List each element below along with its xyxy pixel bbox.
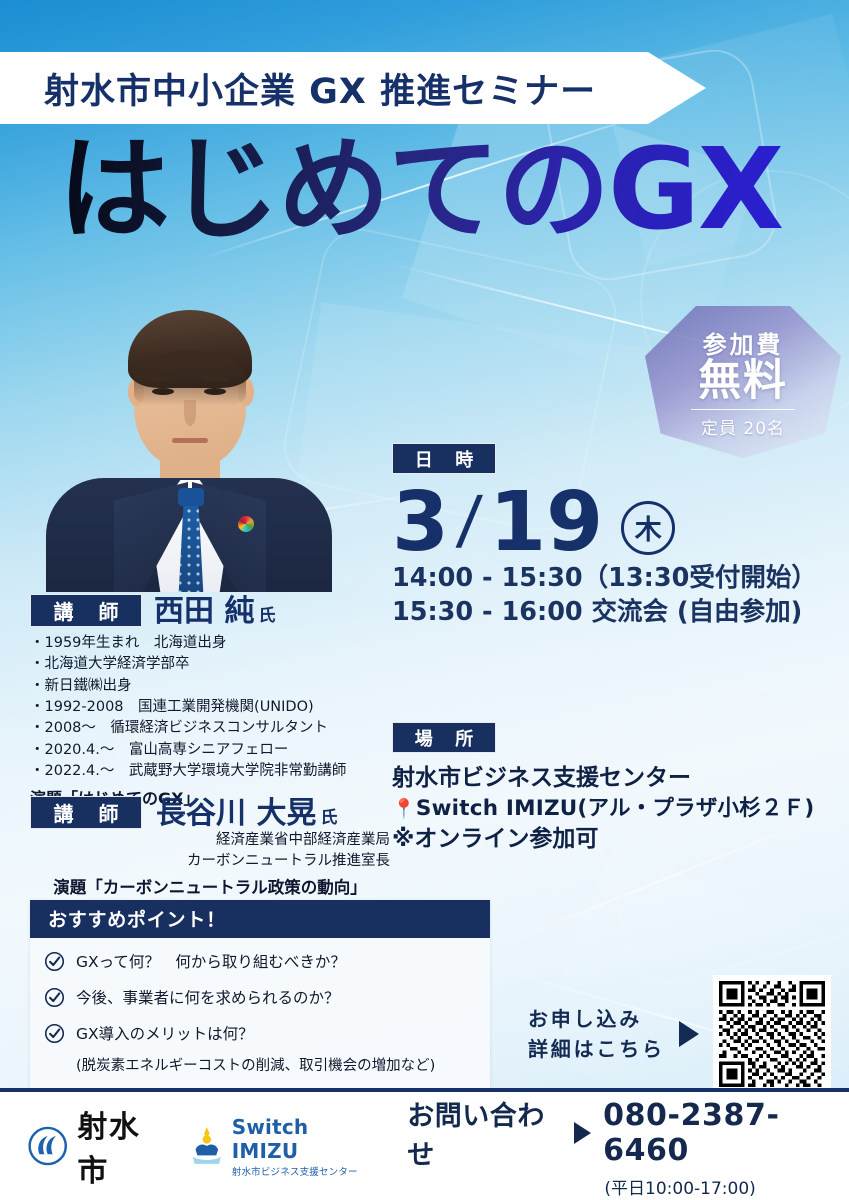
footer: 射水市 Switch IMIZU 射水市ビジネス支援センター お問い合わせ 08…	[0, 1088, 849, 1200]
date-day: 19	[489, 484, 603, 562]
city-name: 射水市	[77, 1102, 166, 1190]
switch-imizu-logo: Switch IMIZU 射水市ビジネス支援センター	[188, 1115, 373, 1178]
fee-badge: 参加費 無料 定員 20名	[645, 306, 841, 458]
point-text: GX導入のメリットは何？	[76, 1022, 254, 1044]
bio-item: 2008〜 循環経済ビジネスコンサルタント	[30, 718, 390, 739]
venue-label: 場 所	[392, 722, 496, 753]
speaker-2-suffix: 氏	[320, 808, 337, 827]
speaker-1-name: 西田 純	[154, 594, 254, 629]
bio-item: 2022.4.〜 武蔵野大学環境大学院非常勤講師	[30, 761, 390, 782]
apply-line-1: お申し込み	[528, 1004, 665, 1034]
speaker-photo	[42, 292, 336, 592]
speaker-1-bio: 1959年生まれ 北海道出身 北海道大学経済学部卒 新日鐵㈱出身 1992-20…	[30, 633, 390, 782]
contact-row: お問い合わせ 080-2387-6460	[407, 1094, 849, 1172]
photo-mouth	[172, 438, 208, 443]
apply-line-2: 詳細はこちら	[528, 1034, 665, 1064]
points-title: おすすめポイント！	[30, 900, 490, 938]
contact-phone[interactable]: 080-2387-6460	[603, 1098, 849, 1168]
datetime-label: 日 時	[392, 443, 496, 474]
speaker-2-name-wrap: 長谷川 大晃氏	[156, 799, 337, 829]
sdgs-pin-icon	[238, 516, 254, 532]
speaker-2-name: 長谷川 大晃	[156, 796, 316, 831]
speaker-1-suffix: 氏	[258, 606, 275, 625]
venue-line-3: ※オンライン参加可	[392, 824, 847, 855]
imizu-city-swirl-icon	[28, 1125, 67, 1167]
check-circle-icon	[44, 951, 65, 972]
venue-line-2: Switch IMIZU(アル・プラザ小杉２Ｆ)	[416, 796, 815, 821]
point-item: 今後、事業者に何を求められるのか？	[44, 986, 476, 1008]
datetime-section: 日 時 3 / 19 木 14:00 - 15:30（13:30受付開始） 15…	[392, 443, 842, 629]
apply-section[interactable]: お申し込み 詳細はこちら	[528, 975, 831, 1093]
points-section: おすすめポイント！ GXって何？ 何から取り組むべきか？ 今後、事業者に何を求め…	[30, 900, 490, 1093]
speaker-2-affiliation-2: カーボンニュートラル推進室長	[30, 852, 390, 871]
speaker-1-name-wrap: 西田 純氏	[154, 597, 275, 627]
switch-imizu-text: Switch IMIZU 射水市ビジネス支援センター	[232, 1115, 373, 1178]
photo-tie-knot	[178, 488, 204, 506]
qr-code-icon[interactable]	[713, 975, 831, 1093]
map-pin-icon: 📍	[392, 798, 416, 820]
check-circle-icon	[44, 987, 65, 1008]
contact-block: お問い合わせ 080-2387-6460 (平日10:00-17:00)	[407, 1094, 849, 1199]
check-circle-icon	[44, 1023, 65, 1044]
switch-name: Switch IMIZU	[232, 1115, 373, 1163]
point-item: GXって何？ 何から取り組むべきか？	[44, 950, 476, 972]
date-separator: /	[454, 489, 484, 557]
switch-imizu-icon	[188, 1125, 226, 1167]
photo-eye-right	[204, 388, 226, 395]
time-line-2: 15:30 - 16:00 交流会 (自由参加)	[392, 596, 842, 630]
bio-item: 新日鐵㈱出身	[30, 676, 390, 697]
speaker-2-label: 講 師	[30, 796, 142, 829]
time-line-1: 14:00 - 15:30（13:30受付開始）	[392, 562, 842, 596]
speaker-1-header: 講 師 西田 純氏	[30, 594, 390, 627]
capacity-label: 定員 20名	[701, 414, 785, 439]
venue-line-1: 射水市ビジネス支援センター	[392, 763, 847, 794]
fee-value: 無料	[698, 359, 787, 404]
photo-nose	[184, 400, 196, 426]
bio-item: 1959年生まれ 北海道出身	[30, 633, 390, 654]
speaker-1: 講 師 西田 純氏 1959年生まれ 北海道出身 北海道大学経済学部卒 新日鐵㈱…	[30, 594, 390, 809]
speaker-2-header: 講 師 長谷川 大晃氏	[30, 796, 390, 829]
bio-item: 北海道大学経済学部卒	[30, 654, 390, 675]
date-day-of-week: 木	[621, 501, 675, 555]
speaker-2-topic: 演題「カーボンニュートラル政策の動向」	[30, 874, 390, 898]
speaker-2-affiliation-1: 経済産業省中部経済産業局	[30, 831, 390, 850]
fee-label: 参加費	[703, 325, 784, 360]
photo-eye-left	[152, 388, 174, 395]
header-banner: 射水市中小企業 GX 推進セミナー	[0, 52, 706, 124]
fee-divider	[691, 409, 795, 411]
imizu-city-logo: 射水市	[28, 1102, 166, 1190]
date-display: 3 / 19 木	[392, 484, 842, 562]
apply-text: お申し込み 詳細はこちら	[528, 1004, 665, 1064]
speaker-2: 講 師 長谷川 大晃氏 経済産業省中部経済産業局 カーボンニュートラル推進室長 …	[30, 796, 390, 898]
point-item: GX導入のメリットは何？	[44, 1022, 476, 1044]
switch-subtitle: 射水市ビジネス支援センター	[232, 1164, 373, 1178]
point-text: GXって何？ 何から取り組むべきか？	[76, 950, 346, 972]
points-body: GXって何？ 何から取り組むべきか？ 今後、事業者に何を求められるのか？ GX導…	[30, 938, 490, 1093]
banner-title: 射水市中小企業 GX 推進セミナー	[44, 63, 596, 114]
photo-hair	[128, 310, 252, 388]
poster-root: 射水市中小企業 GX 推進セミナー はじめてのGX 参加費 無料 定員 20名 …	[0, 0, 849, 1200]
triangle-right-icon	[679, 1021, 699, 1047]
venue-section: 場 所 射水市ビジネス支援センター 📍Switch IMIZU(アル・プラザ小杉…	[392, 722, 847, 855]
speaker-1-label: 講 師	[30, 594, 142, 627]
bio-item: 1992-2008 国連工業開発機関(UNIDO)	[30, 697, 390, 718]
date-month: 3	[392, 484, 449, 562]
point-text: 今後、事業者に何を求められるのか？	[76, 986, 340, 1008]
triangle-right-icon	[574, 1122, 591, 1144]
venue-line-2-wrap: 📍Switch IMIZU(アル・プラザ小杉２Ｆ)	[392, 794, 847, 823]
bio-item: 2020.4.〜 富山高専シニアフェロー	[30, 740, 390, 761]
contact-label: お問い合わせ	[407, 1094, 562, 1172]
contact-hours: (平日10:00-17:00)	[511, 1174, 849, 1199]
points-note: (脱炭素エネルギーコストの削減、取引機会の増加など)	[44, 1054, 476, 1079]
page-title: はじめてのGX	[58, 134, 782, 246]
